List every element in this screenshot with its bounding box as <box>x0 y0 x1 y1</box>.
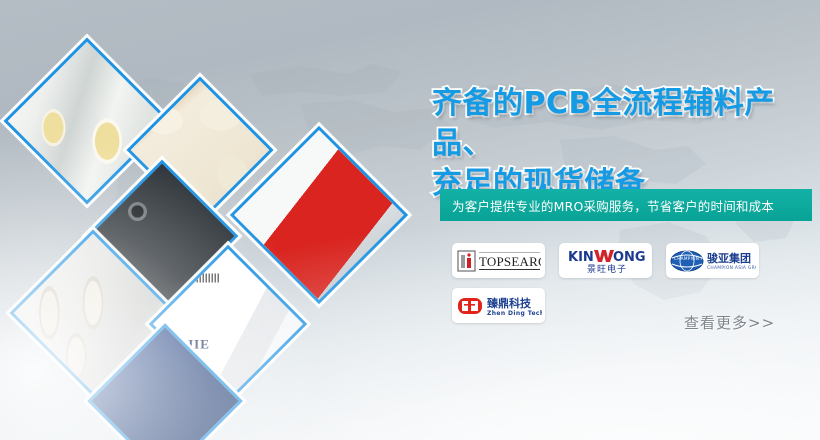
svg-text:CHAMPION ASIA GROUP: CHAMPION ASIA GROUP <box>707 265 756 271</box>
svg-text:景旺电子: 景旺电子 <box>587 263 627 275</box>
product-image-collage: JIE <box>0 0 430 440</box>
svg-text:骏亚集团: 骏亚集团 <box>707 251 751 265</box>
svg-text:KIN: KIN <box>568 250 594 265</box>
svg-text:Zhen Ding Tech.: Zhen Ding Tech. <box>487 310 542 317</box>
promo-banner: JIE 齐备的PCB全流程辅料产品、 充足的现货储备 为客户提供专业的MRO采购… <box>0 0 820 440</box>
banner-subtitle-text: 为客户提供专业的MRO采购服务，节省客户的时间和成本 <box>440 196 774 215</box>
partner-logo-champion-asia[interactable]: CHAMPION ASIA 骏亚集团 CHAMPION ASIA GROUP <box>666 243 759 278</box>
svg-text:TOPSEARCH: TOPSEARCH <box>479 254 541 269</box>
partner-logo-zhen-ding[interactable]: 臻鼎科技 Zhen Ding Tech. <box>452 288 545 323</box>
partner-logo-row-1: TOPSEARCH KIN ONG 景旺电子 <box>452 243 812 278</box>
banner-headline: 齐备的PCB全流程辅料产品、 充足的现货储备 <box>432 84 812 204</box>
svg-text:臻鼎科技: 臻鼎科技 <box>486 296 532 310</box>
view-more-link[interactable]: 查看更多>> <box>684 312 775 333</box>
banner-subtitle-bar: 为客户提供专业的MRO采购服务，节省客户的时间和成本 <box>440 189 812 221</box>
svg-text:CHAMPION ASIA: CHAMPION ASIA <box>674 256 712 261</box>
svg-text:ONG: ONG <box>613 250 646 265</box>
partner-logo-topsearch[interactable]: TOPSEARCH <box>452 243 545 278</box>
partner-logo-kinwong[interactable]: KIN ONG 景旺电子 <box>559 243 652 278</box>
